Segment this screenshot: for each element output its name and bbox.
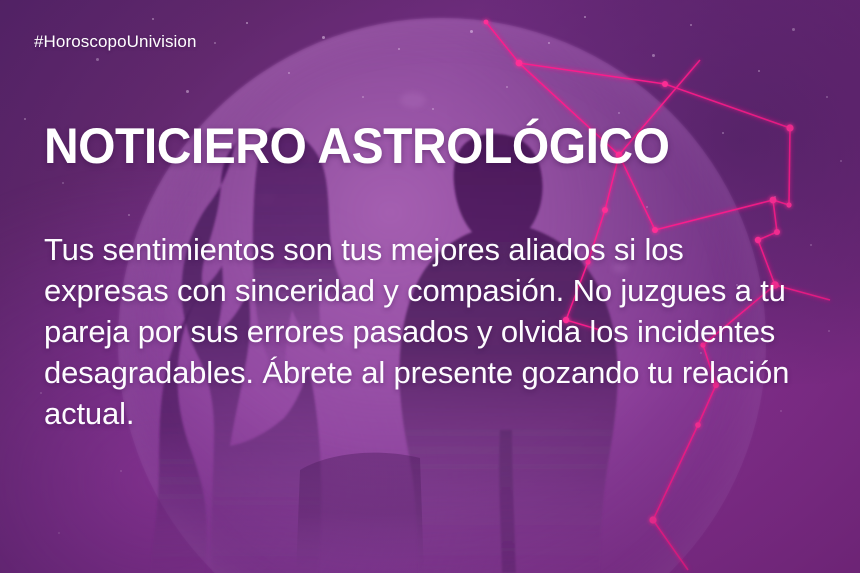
horoscope-body-text: Tus sentimientos son tus mejores aliados… <box>44 229 814 434</box>
horoscope-card: #HoroscopoUnivision NOTICIERO ASTROLÓGIC… <box>0 0 860 573</box>
page-title: NOTICIERO ASTROLÓGICO <box>44 120 669 172</box>
content-layer: #HoroscopoUnivision NOTICIERO ASTROLÓGIC… <box>0 0 860 573</box>
hashtag-label: #HoroscopoUnivision <box>34 32 197 52</box>
